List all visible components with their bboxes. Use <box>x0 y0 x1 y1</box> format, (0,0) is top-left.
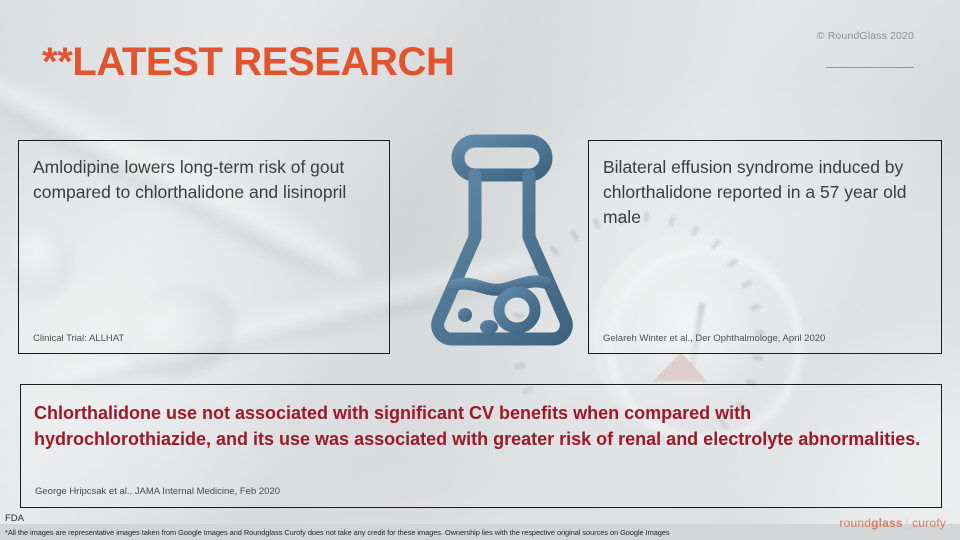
header-divider-rule <box>826 67 914 68</box>
research-card-bottom[interactable]: Chlorthalidone use not associated with s… <box>20 384 942 508</box>
footer-source-label: FDA <box>5 513 24 524</box>
research-card-left-citation: Clinical Trial: ALLHAT <box>33 333 124 344</box>
logo-text-glass: glass <box>871 516 903 530</box>
page-title: **LATEST RESEARCH <box>42 40 455 85</box>
flask-icon <box>424 133 580 351</box>
roundglass-curofy-logo: roundglass|curofy <box>839 516 946 530</box>
slide-canvas: © RoundGlass 2020 **LATEST RESEARCH Amlo… <box>0 0 960 540</box>
logo-separator: | <box>906 516 909 530</box>
logo-text-curofy: curofy <box>912 516 946 530</box>
research-card-bottom-citation: George Hripcsak et al., JAMA Internal Me… <box>35 486 280 497</box>
logo-text-round: round <box>839 516 871 530</box>
research-card-left[interactable]: Amlodipine lowers long-term risk of gout… <box>18 140 390 354</box>
research-card-right[interactable]: Bilateral effusion syndrome induced by c… <box>588 140 942 354</box>
research-card-right-text: Bilateral effusion syndrome induced by c… <box>603 155 929 230</box>
research-card-left-text: Amlodipine lowers long-term risk of gout… <box>33 155 377 205</box>
research-card-right-citation: Gelareh Winter et al., Der Ophthalmologe… <box>603 333 825 344</box>
copyright-notice: © RoundGlass 2020 <box>817 30 914 42</box>
research-card-bottom-text: Chlorthalidone use not associated with s… <box>34 401 921 453</box>
footer-disclaimer: *All the images are representative image… <box>5 528 670 537</box>
